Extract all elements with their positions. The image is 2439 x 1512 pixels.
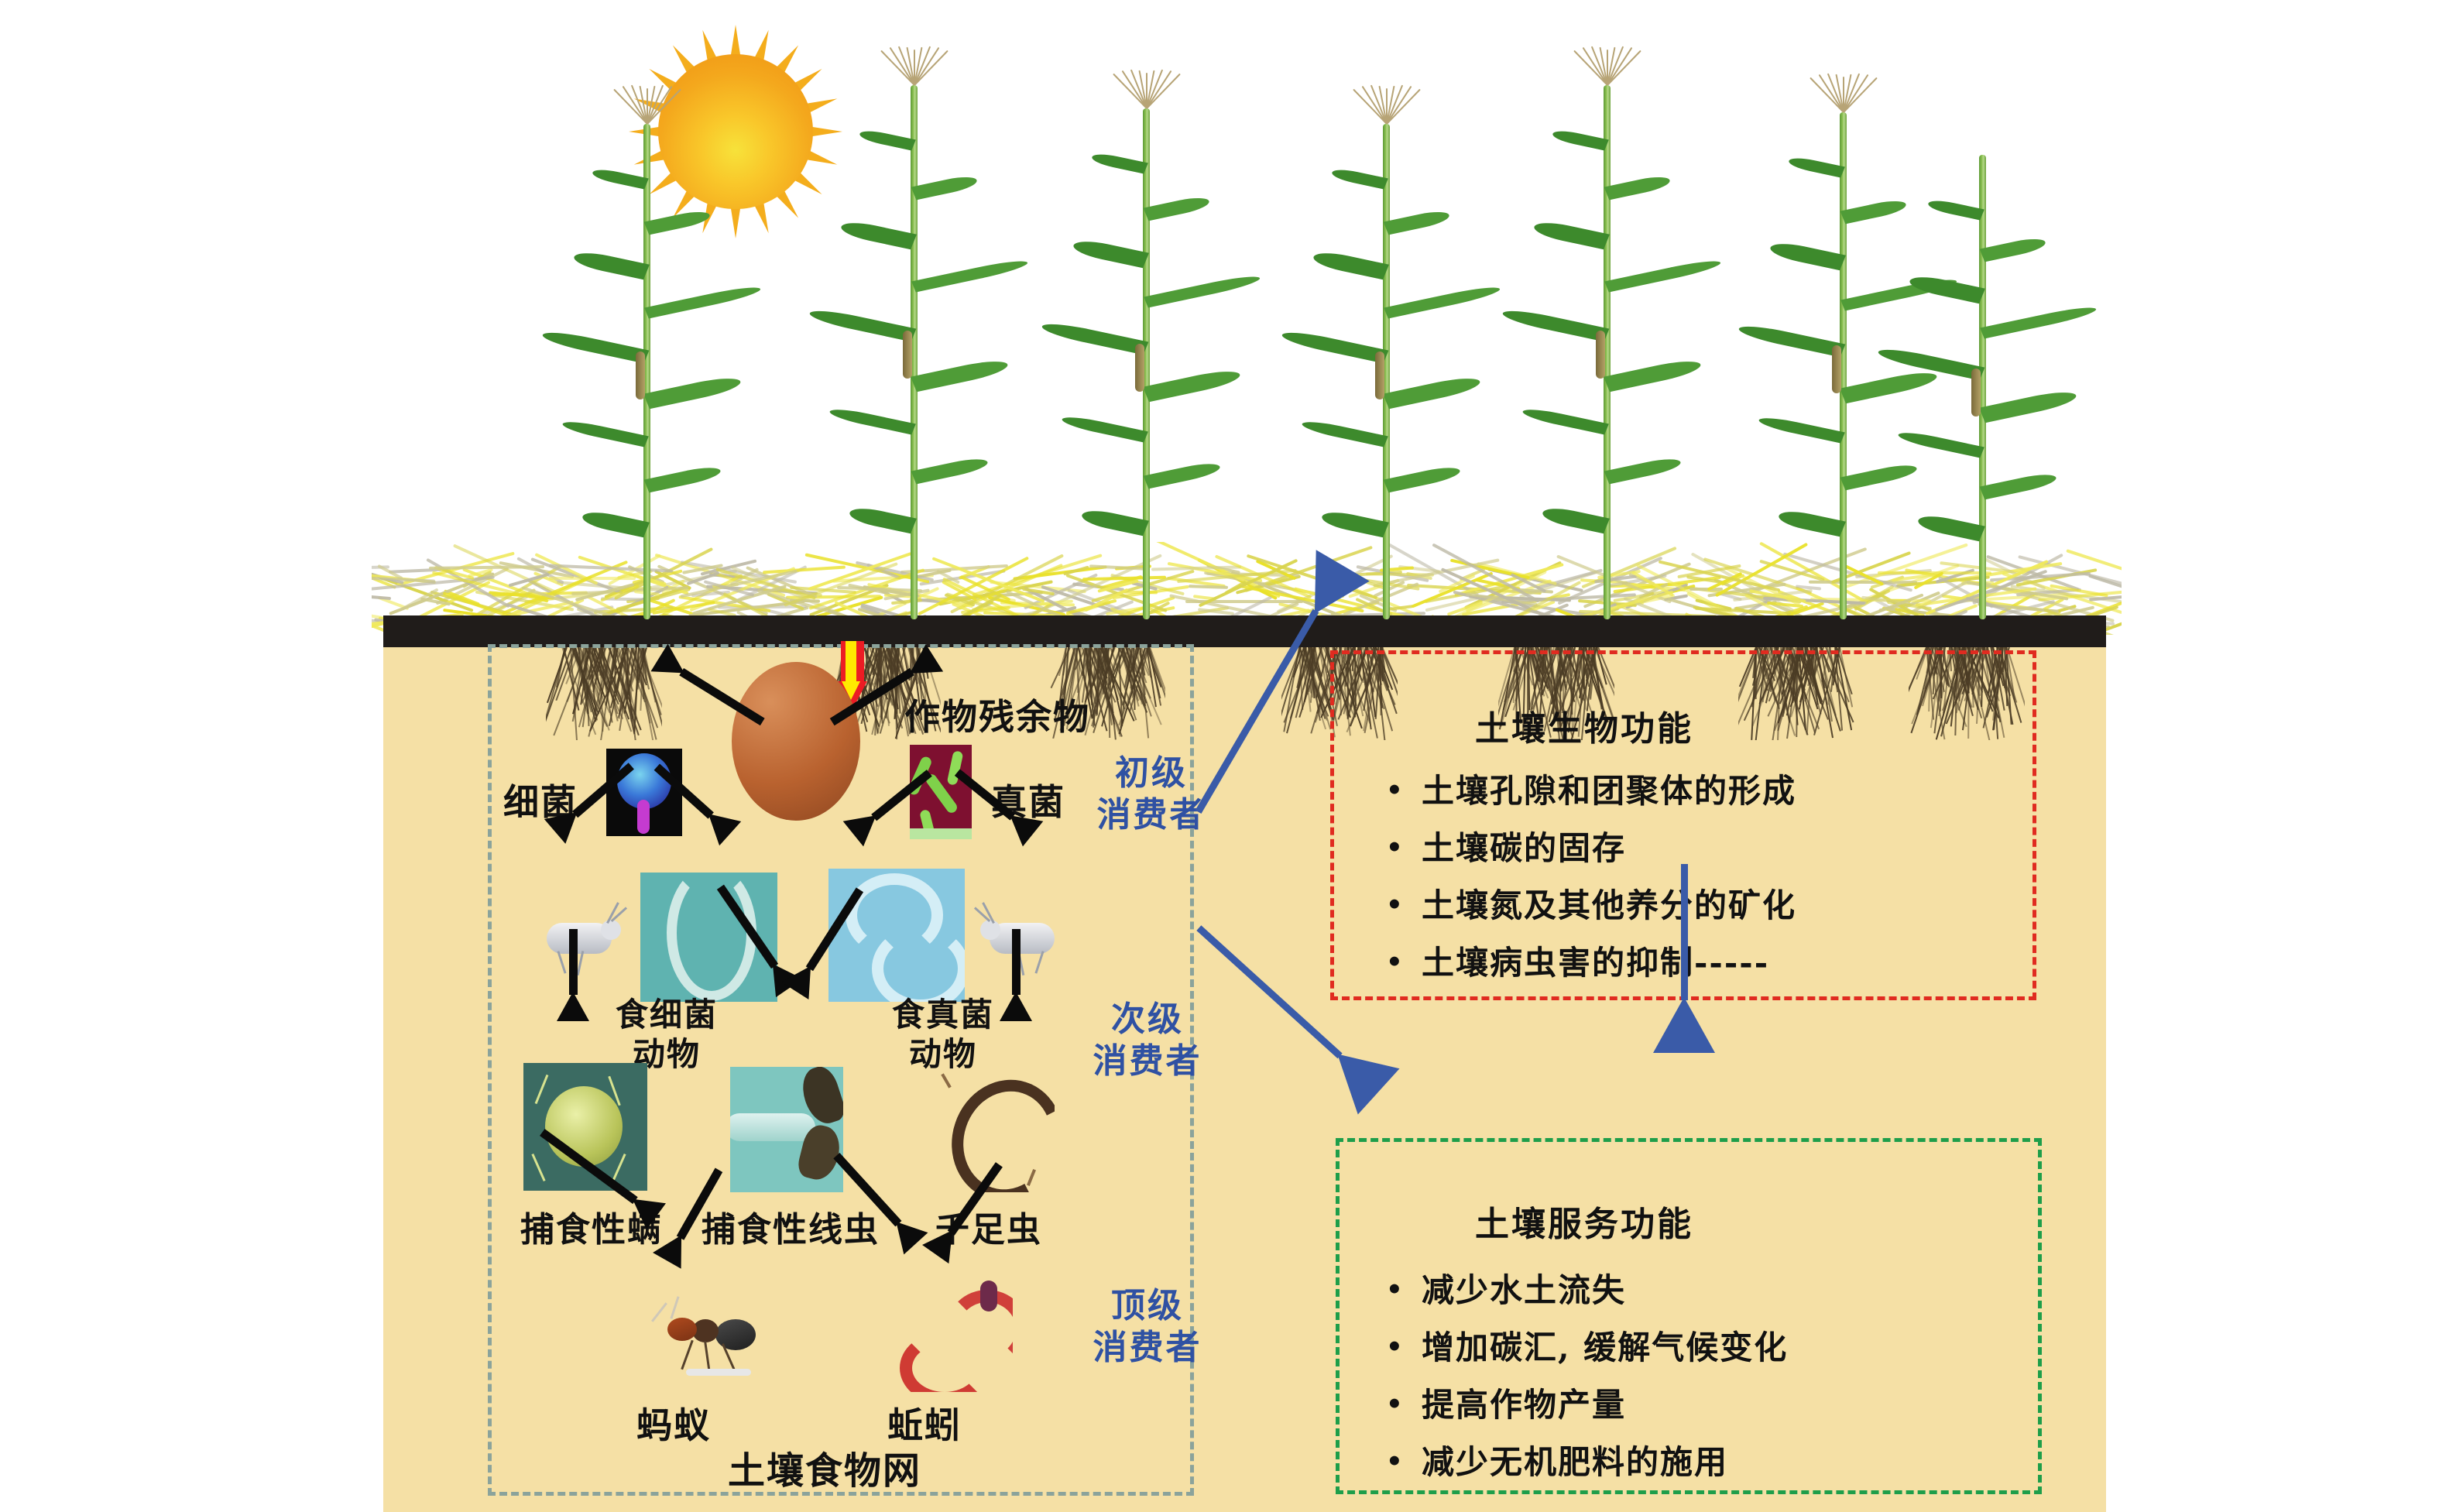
bullet-icon: •	[1386, 946, 1422, 979]
service-function-item-text: 增加碳汇, 缓解气候变化	[1422, 1331, 1788, 1365]
corn-leaf	[828, 406, 916, 434]
corn-leaf	[1737, 322, 1846, 357]
corn-leaf	[643, 374, 743, 409]
bio-function-item: •土壤碳的固存	[1386, 831, 1796, 866]
corn-leaf	[911, 455, 990, 484]
bio-function-item-text: 土壤碳的固存	[1422, 831, 1626, 866]
corn-leaf	[1776, 508, 1846, 537]
figure-canvas: 作物残余物 细菌 真菌 初级 消费者	[0, 0, 2439, 1512]
corn-ear-icon	[1596, 331, 1605, 379]
corn-leaf	[1926, 198, 1984, 221]
service-function-item-text: 减少无机肥料的施用	[1422, 1445, 1728, 1479]
corn-plant-icon	[1305, 124, 1467, 619]
secondary-consumer-tier-label: 次级 消费者	[1070, 999, 1225, 1082]
corn-leaf	[1144, 273, 1262, 308]
earthworm-icon	[889, 1276, 1013, 1392]
bullet-icon: •	[1386, 831, 1422, 865]
corn-leaf	[847, 505, 917, 533]
corn-plant-icon	[828, 85, 999, 619]
corn-leaf	[1079, 507, 1149, 536]
soil-surface-layer	[383, 615, 2106, 648]
corn-leaf	[858, 129, 916, 151]
corn-leaf	[1980, 235, 2048, 262]
corn-leaf	[1384, 283, 1502, 318]
fungivore-collembola-icon	[974, 890, 1067, 983]
bio-function-item: •土壤病虫害的抑制-----	[1386, 946, 1796, 980]
corn-ear-icon	[1832, 345, 1841, 393]
corn-ear-icon	[1971, 369, 1981, 417]
corn-plant-icon	[1760, 112, 1926, 619]
corn-ear-icon	[636, 351, 645, 399]
corn-leaf	[1604, 455, 1683, 484]
bio-function-item: •土壤氮及其他养分的矿化	[1386, 889, 1796, 923]
ant-icon	[641, 1291, 765, 1377]
corn-leaf	[1768, 240, 1846, 270]
soil-service-functions-title: 土壤服务功能	[1475, 1196, 1693, 1246]
corn-leaf	[1757, 415, 1845, 444]
bullet-icon: •	[1386, 1388, 1422, 1421]
corn-leaf	[911, 258, 1030, 293]
predatory-mite-icon	[523, 1063, 647, 1191]
bacteria-micrograph-icon	[606, 749, 682, 836]
bullet-icon: •	[1386, 889, 1422, 922]
service-function-item: •减少水土流失	[1386, 1274, 1788, 1308]
straw-piece	[372, 593, 391, 599]
bacterivore-collembola-icon	[534, 890, 627, 983]
corn-leaf	[644, 283, 763, 318]
corn-leaf	[1979, 388, 2079, 423]
service-function-item-text: 减少水土流失	[1422, 1274, 1626, 1308]
corn-leaf	[1907, 273, 1985, 303]
secondary-consumer-line1: 次级	[1070, 999, 1225, 1041]
corn-leaf	[1319, 509, 1389, 538]
corn-leaf	[580, 509, 650, 538]
service-function-item-text: 提高作物产量	[1422, 1388, 1626, 1422]
predatory-nematode-icon	[730, 1067, 843, 1192]
corn-ear-icon	[1135, 344, 1144, 392]
corn-leaf	[1300, 419, 1388, 447]
corn-leaf	[1980, 471, 2059, 499]
corn-leaf	[571, 249, 650, 279]
bacterivore-label-line1: 食细菌	[616, 995, 718, 1034]
corn-leaf	[1604, 173, 1672, 200]
soil-biological-functions-title: 土壤生物功能	[1475, 701, 1693, 750]
corn-leaf	[1280, 328, 1389, 363]
secondary-consumer-line2: 消费者	[1070, 1041, 1225, 1082]
corn-leaf	[911, 357, 1010, 392]
corn-leaf	[1060, 413, 1148, 442]
service-function-item: •减少无机肥料的施用	[1386, 1445, 1788, 1479]
ant-label: 蚂蚁	[636, 1397, 711, 1449]
bullet-icon: •	[1386, 1274, 1422, 1307]
corn-leaf	[1040, 320, 1149, 355]
corn-leaf	[1532, 219, 1610, 249]
corn-plant-icon	[1063, 108, 1230, 619]
corn-leaf	[1840, 198, 1909, 225]
soil-biological-functions-list: •土壤孔隙和团聚体的形成•土壤碳的固存•土壤氮及其他养分的矿化•土壤病虫害的抑制…	[1386, 774, 1796, 1003]
fungi-micrograph-icon	[910, 745, 972, 839]
corn-ear-icon	[903, 331, 912, 379]
corn-leaf	[1501, 307, 1610, 342]
corn-leaf	[1787, 156, 1845, 178]
corn-plant-icon	[1521, 85, 1692, 619]
corn-leaf	[1143, 367, 1243, 402]
corn-leaf	[1383, 374, 1483, 409]
straw-piece	[1689, 588, 1723, 591]
corn-leaf	[911, 173, 979, 200]
primary-consumer-tier-label: 初级 消费者	[1078, 753, 1225, 835]
soil-food-web-label: 土壤食物网	[728, 1440, 921, 1494]
fungivore-label-line1: 食真菌	[892, 995, 994, 1034]
service-function-item: •提高作物产量	[1386, 1388, 1788, 1422]
corn-leaf	[1384, 208, 1452, 235]
corn-plant-icon	[565, 124, 728, 619]
corn-leaf	[808, 307, 917, 342]
corn-leaf	[1071, 237, 1149, 267]
corn-leaf	[591, 167, 649, 190]
corn-plant-icon	[1905, 155, 2060, 619]
bio-function-item-text: 土壤孔隙和团聚体的形成	[1422, 774, 1796, 808]
bio-function-item-text: 土壤氮及其他养分的矿化	[1422, 889, 1796, 923]
bio-function-item: •土壤孔隙和团聚体的形成	[1386, 774, 1796, 808]
corn-leaf	[1916, 513, 1985, 541]
corn-leaf	[561, 419, 649, 447]
corn-leaf	[540, 328, 650, 363]
corn-leaf	[644, 208, 712, 235]
service-function-item: •增加碳汇, 缓解气候变化	[1386, 1331, 1788, 1365]
predatory-nematode-label: 捕食性线虫	[702, 1202, 880, 1251]
bullet-icon: •	[1386, 1445, 1422, 1479]
bio-function-item-text: 土壤病虫害的抑制-----	[1422, 946, 1769, 980]
corn-leaf	[1090, 152, 1148, 174]
corn-leaf	[1896, 429, 1984, 458]
fungivore-label: 食真菌 动物	[892, 995, 994, 1074]
bullet-icon: •	[1386, 1331, 1422, 1364]
corn-leaf	[1384, 464, 1463, 492]
top-consumer-tier-label: 顶级 消费者	[1070, 1285, 1225, 1368]
crop-residue-icon	[732, 662, 860, 821]
corn-leaf	[839, 219, 917, 249]
crop-residue-label: 作物残余物	[904, 689, 1090, 740]
fungivore-nematode-icon	[828, 869, 965, 1002]
corn-leaf	[1144, 194, 1212, 221]
corn-leaf	[1551, 129, 1609, 151]
primary-consumer-line1: 初级	[1078, 753, 1225, 794]
corn-leaf	[1540, 505, 1610, 533]
corn-leaf	[1980, 304, 2098, 339]
soil-service-functions-list: •减少水土流失•增加碳汇, 缓解气候变化•提高作物产量•减少无机肥料的施用	[1386, 1274, 1788, 1503]
corn-leaf	[644, 464, 723, 492]
top-consumer-line1: 顶级	[1070, 1285, 1225, 1327]
corn-leaf	[1604, 258, 1723, 293]
corn-leaf	[1330, 167, 1388, 190]
corn-leaf	[1311, 249, 1389, 279]
corn-leaf	[1604, 357, 1703, 392]
corn-leaf	[1521, 406, 1609, 434]
bullet-icon: •	[1386, 774, 1422, 807]
top-consumer-line2: 消费者	[1070, 1327, 1225, 1369]
corn-ear-icon	[1375, 351, 1384, 399]
corn-leaf	[1144, 461, 1223, 489]
